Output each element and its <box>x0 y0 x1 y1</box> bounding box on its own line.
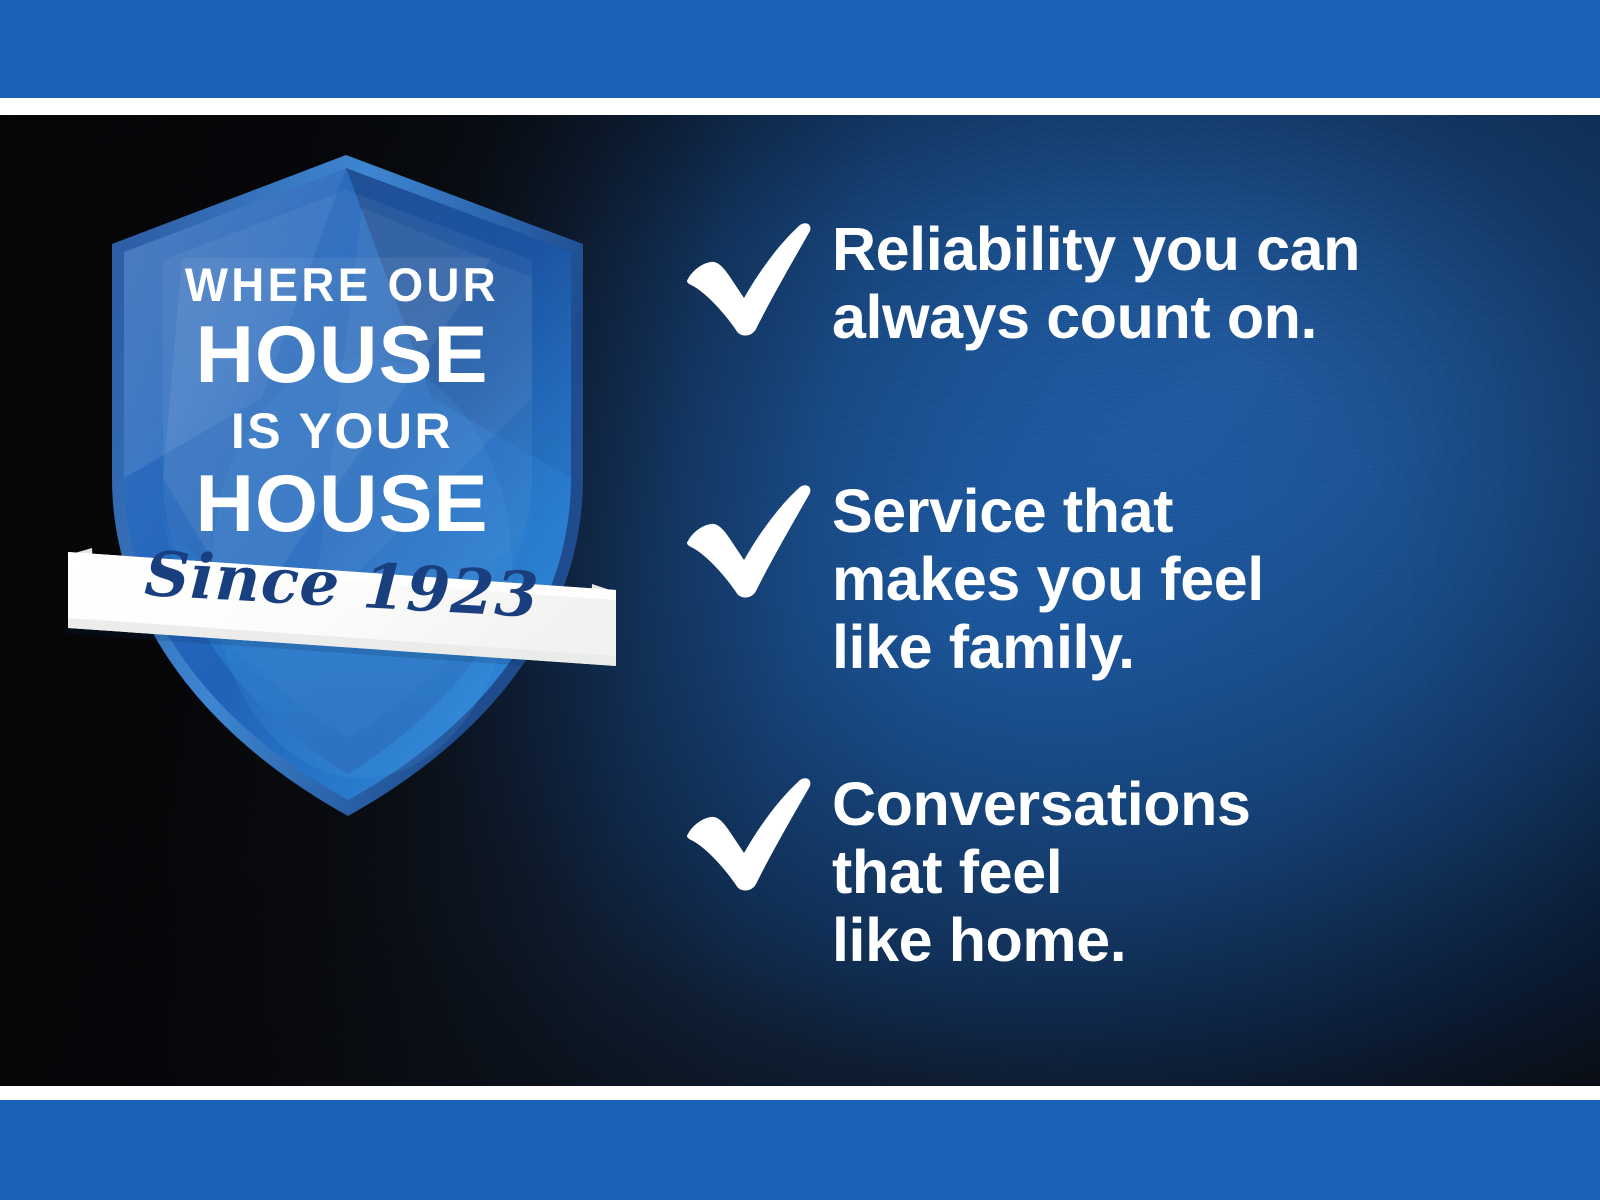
list-item-line: Reliability you can <box>832 215 1502 283</box>
logo-line-4: HOUSE <box>62 464 622 545</box>
list-item-line: makes you feel <box>832 545 1502 613</box>
logo-line-3: IS YOUR <box>62 406 622 456</box>
promo-graphic: WHERE OUR HOUSE IS YOUR HOUSE Since 1923… <box>0 0 1600 1200</box>
check-icon <box>682 481 814 601</box>
list-item-text: Service that makes you feel like family. <box>832 477 1502 681</box>
list-item-line: Conversations <box>832 770 1502 838</box>
list-item-line: like home. <box>832 906 1502 974</box>
bottom-accent-band <box>0 1100 1600 1200</box>
check-icon <box>682 774 814 894</box>
list-item-text: Conversations that feel like home. <box>832 770 1502 974</box>
top-accent-band <box>0 0 1600 98</box>
list-item-line: Service that <box>832 477 1502 545</box>
benefits-list: Reliability you can always count on. Ser… <box>672 115 1502 1086</box>
list-item-line: like family. <box>832 613 1502 681</box>
list-item-text: Reliability you can always count on. <box>832 215 1502 351</box>
logo-line-2: HOUSE <box>62 315 622 396</box>
list-item-line: that feel <box>832 838 1502 906</box>
check-icon <box>682 219 814 339</box>
shield-badge-logo: WHERE OUR HOUSE IS YOUR HOUSE Since 1923 <box>62 148 622 828</box>
list-item-line: always count on. <box>832 283 1502 351</box>
logo-line-1: WHERE OUR <box>70 261 613 308</box>
